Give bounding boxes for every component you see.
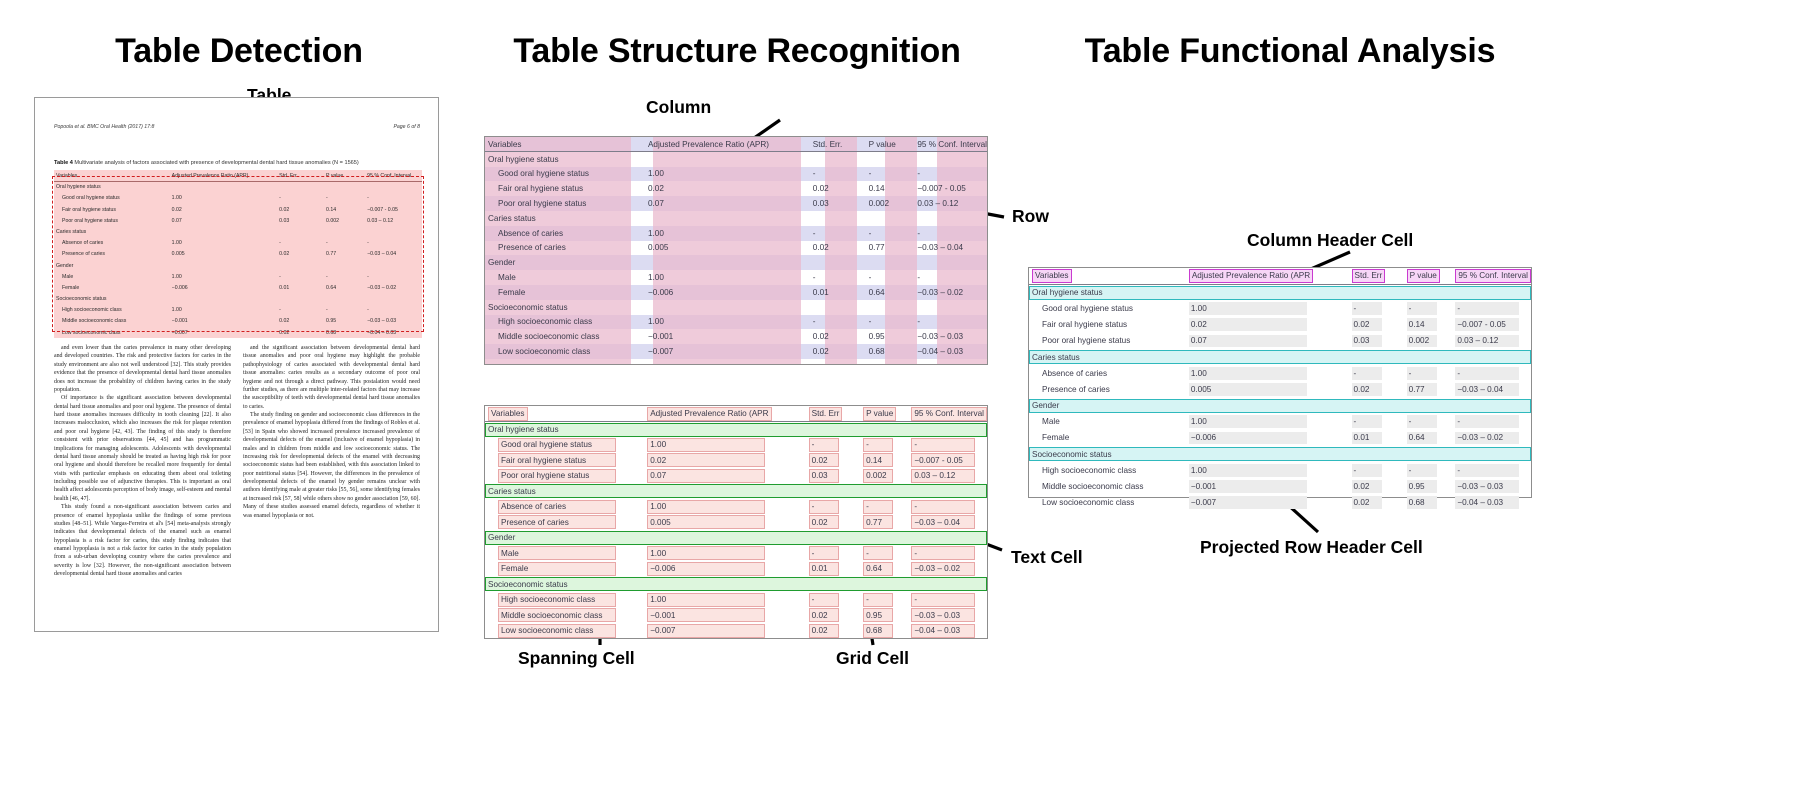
grid-cell[interactable]: −0.006: [644, 561, 805, 577]
grid-cell[interactable]: −0.03 – 0.02: [1452, 430, 1531, 446]
grid-cell[interactable]: -: [914, 315, 987, 330]
table-row[interactable]: High socioeconomic class1.00---: [485, 315, 987, 330]
grid-cell[interactable]: 0.03 – 0.12: [914, 196, 987, 211]
grid-cell-box[interactable]: −0.007 - 0.05: [911, 453, 975, 467]
grid-cell[interactable]: 0.02: [1349, 478, 1404, 494]
grid-cell[interactable]: -: [1349, 462, 1404, 478]
grid-cell[interactable]: 0.07: [1186, 333, 1349, 349]
grid-cell[interactable]: −0.04 – 0.03: [914, 344, 987, 359]
grid-cell[interactable]: 1.00: [645, 270, 810, 285]
grid-cell[interactable]: −0.03 – 0.03: [908, 608, 987, 624]
grid-cell[interactable]: -: [866, 315, 915, 330]
grid-cell-box[interactable]: -: [911, 593, 975, 607]
grid-cell[interactable]: -: [866, 167, 915, 182]
row-header-cell[interactable]: High socioeconomic class: [485, 592, 644, 608]
grid-cell-box[interactable]: 0.002: [863, 469, 893, 483]
table-row[interactable]: Poor oral hygiene status0.070.030.0020.0…: [485, 468, 987, 484]
value-cell[interactable]: 0.03: [1352, 335, 1382, 348]
table-row[interactable]: Absence of caries1.00---: [485, 226, 987, 241]
table-row[interactable]: Fair oral hygiene status0.020.020.14−0.0…: [1029, 317, 1531, 333]
grid-cell[interactable]: 0.64: [860, 561, 908, 577]
row-header-cell[interactable]: Absence of caries: [485, 226, 645, 241]
column-header-cell[interactable]: P value: [1404, 268, 1453, 284]
table-row[interactable]: Middle socioeconomic class−0.0010.020.95…: [1029, 478, 1531, 494]
grid-cell[interactable]: 0.02: [1186, 317, 1349, 333]
grid-cell[interactable]: 0.02: [810, 329, 866, 344]
grid-cell[interactable]: -: [860, 592, 908, 608]
row-header-cell[interactable]: Middle socioeconomic class: [1029, 478, 1186, 494]
grid-cell[interactable]: 1.00: [1186, 414, 1349, 430]
grid-cell-box[interactable]: 0.02: [809, 515, 839, 529]
column-header-cell-box[interactable]: P value: [1407, 269, 1440, 283]
grid-cell[interactable]: [866, 152, 915, 167]
grid-cell[interactable]: 0.77: [1404, 381, 1453, 397]
grid-cell[interactable]: -: [914, 226, 987, 241]
grid-cell[interactable]: [810, 152, 866, 167]
column-header-cell[interactable]: Variables: [1029, 268, 1186, 284]
table-row[interactable]: Middle socioeconomic class−0.0010.020.95…: [485, 608, 987, 624]
spanning-cell-box[interactable]: Caries status: [485, 484, 987, 498]
column-header-cell-box[interactable]: Variables: [488, 407, 528, 421]
grid-cell[interactable]: -: [1404, 365, 1453, 381]
grid-cell[interactable]: [914, 255, 987, 270]
grid-cell[interactable]: −0.007 - 0.05: [914, 181, 987, 196]
grid-cell[interactable]: -: [1452, 365, 1531, 381]
table-row[interactable]: Good oral hygiene status1.00---: [485, 167, 987, 182]
projected-row-header-cell-box[interactable]: Oral hygiene status: [1029, 286, 1531, 300]
projected-row-header-cell[interactable]: Socioeconomic status: [485, 300, 645, 315]
grid-cell[interactable]: [866, 300, 915, 315]
row-header-cell[interactable]: Good oral hygiene status: [485, 167, 645, 182]
grid-cell[interactable]: [810, 211, 866, 226]
value-cell[interactable]: 0.01: [1352, 432, 1382, 445]
table-row[interactable]: Fair oral hygiene status0.020.020.14−0.0…: [485, 181, 987, 196]
table-row[interactable]: Low socioeconomic class−0.0070.020.68−0.…: [1029, 495, 1531, 511]
spanning-cell[interactable]: Caries status: [485, 484, 987, 500]
grid-cell[interactable]: 1.00: [1186, 462, 1349, 478]
row-header-cell[interactable]: Absence of caries: [1029, 365, 1186, 381]
text-cell-box[interactable]: Poor oral hygiene status: [498, 469, 616, 483]
grid-cell[interactable]: -: [866, 270, 915, 285]
column-header-cell[interactable]: P value: [860, 406, 908, 422]
grid-cell[interactable]: -: [1452, 462, 1531, 478]
grid-cell[interactable]: 0.02: [810, 181, 866, 196]
grid-cell[interactable]: −0.006: [645, 285, 810, 300]
row-header-cell[interactable]: Absence of caries: [485, 499, 644, 515]
grid-cell[interactable]: [866, 255, 915, 270]
grid-cell-box[interactable]: 0.07: [647, 469, 765, 483]
value-cell[interactable]: −0.03 – 0.02: [1455, 432, 1519, 445]
grid-cell[interactable]: 0.02: [810, 344, 866, 359]
row-header-cell[interactable]: Male: [1029, 414, 1186, 430]
row-header-cell[interactable]: Low socioeconomic class: [485, 344, 645, 359]
value-cell[interactable]: 1.00: [1189, 302, 1307, 315]
grid-cell[interactable]: -: [908, 546, 987, 562]
projected-row-header-cell[interactable]: Socioeconomic status: [1029, 446, 1531, 462]
grid-cell[interactable]: -: [1404, 414, 1453, 430]
grid-cell-box[interactable]: 0.77: [863, 515, 893, 529]
grid-cell[interactable]: -: [806, 546, 860, 562]
table-row[interactable]: Presence of caries0.0050.020.77−0.03 – 0…: [1029, 381, 1531, 397]
projected-row-header-cell[interactable]: Gender: [1029, 398, 1531, 414]
grid-cell-box[interactable]: -: [863, 593, 893, 607]
grid-cell[interactable]: 0.02: [806, 608, 860, 624]
grid-cell[interactable]: -: [866, 226, 915, 241]
table-row[interactable]: Fair oral hygiene status0.020.020.14−0.0…: [485, 453, 987, 469]
grid-cell-box[interactable]: 0.95: [863, 608, 893, 622]
text-cell-box[interactable]: Fair oral hygiene status: [498, 453, 616, 467]
grid-cell[interactable]: -: [810, 226, 866, 241]
column-header-cell[interactable]: Variables: [485, 406, 644, 422]
grid-cell[interactable]: 0.01: [806, 561, 860, 577]
row-header-cell[interactable]: Presence of caries: [485, 241, 645, 256]
grid-cell-box[interactable]: −0.04 – 0.03: [911, 624, 975, 638]
grid-cell[interactable]: [866, 211, 915, 226]
value-cell[interactable]: −0.03 – 0.03: [1455, 480, 1519, 493]
value-cell[interactable]: 0.14: [1407, 318, 1437, 331]
row-header-cell[interactable]: Male: [485, 270, 645, 285]
column-header-cell[interactable]: 95 % Conf. Interval: [908, 406, 987, 422]
row-header-cell[interactable]: Low socioeconomic class: [485, 623, 644, 639]
grid-cell-box[interactable]: 0.005: [647, 515, 765, 529]
grid-cell-box[interactable]: 0.03: [809, 469, 839, 483]
value-cell[interactable]: 0.02: [1352, 480, 1382, 493]
grid-cell[interactable]: 0.005: [645, 241, 810, 256]
row-header-cell[interactable]: Female: [1029, 430, 1186, 446]
grid-cell[interactable]: 0.64: [1404, 430, 1453, 446]
grid-cell[interactable]: -: [810, 167, 866, 182]
table-row[interactable]: Presence of caries0.0050.020.77−0.03 – 0…: [485, 515, 987, 531]
spanning-cell[interactable]: Gender: [485, 530, 987, 546]
grid-cell-box[interactable]: 1.00: [647, 546, 765, 560]
grid-cell[interactable]: -: [1349, 300, 1404, 316]
value-cell[interactable]: -: [1352, 464, 1382, 477]
grid-cell-box[interactable]: −0.03 – 0.04: [911, 515, 975, 529]
grid-cell[interactable]: 0.14: [860, 453, 908, 469]
table-row[interactable]: Poor oral hygiene status0.070.030.0020.0…: [485, 196, 987, 211]
grid-cell[interactable]: 0.07: [644, 468, 805, 484]
text-cell-box[interactable]: Presence of caries: [498, 515, 616, 529]
grid-cell[interactable]: -: [914, 167, 987, 182]
grid-cell[interactable]: -: [1349, 365, 1404, 381]
table-row[interactable]: Male1.00---: [1029, 414, 1531, 430]
value-cell[interactable]: 0.02: [1189, 318, 1307, 331]
grid-cell[interactable]: −0.04 – 0.03: [1452, 495, 1531, 511]
value-cell[interactable]: −0.007: [1189, 496, 1307, 509]
grid-cell[interactable]: 0.77: [860, 515, 908, 531]
value-cell[interactable]: -: [1455, 367, 1519, 380]
grid-cell[interactable]: 0.03 – 0.12: [908, 468, 987, 484]
spanning-cell-box[interactable]: Socioeconomic status: [485, 577, 987, 591]
table-row[interactable]: Poor oral hygiene status0.070.030.0020.0…: [1029, 333, 1531, 349]
grid-cell-box[interactable]: -: [911, 500, 975, 514]
grid-cell[interactable]: [914, 300, 987, 315]
value-cell[interactable]: 0.68: [1407, 496, 1437, 509]
grid-cell-box[interactable]: 0.68: [863, 624, 893, 638]
grid-cell[interactable]: −0.03 – 0.04: [1452, 381, 1531, 397]
row-header-cell[interactable]: Good oral hygiene status: [1029, 300, 1186, 316]
value-cell[interactable]: −0.001: [1189, 480, 1307, 493]
value-cell[interactable]: −0.006: [1189, 432, 1307, 445]
grid-cell[interactable]: 0.14: [1404, 317, 1453, 333]
grid-cell[interactable]: 0.02: [806, 453, 860, 469]
grid-cell[interactable]: −0.001: [645, 329, 810, 344]
grid-cell[interactable]: -: [810, 315, 866, 330]
grid-cell[interactable]: 0.02: [806, 623, 860, 639]
grid-cell-box[interactable]: 0.02: [809, 624, 839, 638]
column-header-cell[interactable]: Std. Err.: [810, 137, 866, 152]
value-cell[interactable]: 0.95: [1407, 480, 1437, 493]
grid-cell[interactable]: 1.00: [644, 437, 805, 453]
table-row[interactable]: Caries status: [485, 484, 987, 500]
grid-cell[interactable]: −0.006: [1186, 430, 1349, 446]
value-cell[interactable]: -: [1455, 302, 1519, 315]
row-header-cell[interactable]: Female: [485, 285, 645, 300]
grid-cell[interactable]: -: [806, 592, 860, 608]
grid-cell[interactable]: 0.005: [644, 515, 805, 531]
grid-cell-box[interactable]: -: [911, 438, 975, 452]
column-header-cell-box[interactable]: Std. Err: [1352, 269, 1386, 283]
text-cell-box[interactable]: Good oral hygiene status: [498, 438, 616, 452]
grid-cell[interactable]: 0.01: [810, 285, 866, 300]
grid-cell[interactable]: -: [1452, 414, 1531, 430]
grid-cell[interactable]: -: [860, 437, 908, 453]
column-header-cell[interactable]: P value: [866, 137, 915, 152]
table-row[interactable]: Socioeconomic status: [485, 300, 987, 315]
grid-cell[interactable]: [645, 255, 810, 270]
row-header-cell[interactable]: Low socioeconomic class: [1029, 495, 1186, 511]
table-row[interactable]: Good oral hygiene status1.00---: [485, 437, 987, 453]
grid-cell-box[interactable]: 0.64: [863, 562, 893, 576]
column-header-cell[interactable]: Std. Err: [806, 406, 860, 422]
table-row[interactable]: Absence of caries1.00---: [485, 499, 987, 515]
column-header-cell[interactable]: 95 % Conf. Interval: [1452, 268, 1531, 284]
grid-cell[interactable]: [914, 152, 987, 167]
column-header-cell-box[interactable]: Std. Err: [809, 407, 843, 421]
grid-cell[interactable]: [914, 211, 987, 226]
grid-cell[interactable]: −0.007 - 0.05: [908, 453, 987, 469]
projected-row-header-cell[interactable]: Caries status: [1029, 349, 1531, 365]
grid-cell-box[interactable]: −0.03 – 0.02: [911, 562, 975, 576]
value-cell[interactable]: 0.02: [1352, 383, 1382, 396]
grid-cell[interactable]: 0.07: [645, 196, 810, 211]
table-row[interactable]: Female−0.0060.010.64−0.03 – 0.02: [485, 561, 987, 577]
grid-cell[interactable]: −0.007: [1186, 495, 1349, 511]
table-row[interactable]: Female−0.0060.010.64−0.03 – 0.02: [1029, 430, 1531, 446]
grid-cell[interactable]: 1.00: [644, 499, 805, 515]
grid-cell[interactable]: 0.02: [644, 453, 805, 469]
row-header-cell[interactable]: Poor oral hygiene status: [485, 468, 644, 484]
grid-cell-box[interactable]: 1.00: [647, 438, 765, 452]
column-header-cell-box[interactable]: Adjusted Prevalence Ratio (APR: [647, 407, 771, 421]
grid-cell[interactable]: 0.64: [866, 285, 915, 300]
table-row[interactable]: Low socioeconomic class−0.0070.020.68−0.…: [485, 623, 987, 639]
table-row[interactable]: High socioeconomic class1.00---: [485, 592, 987, 608]
column-header-cell-box[interactable]: 95 % Conf. Interval: [911, 407, 987, 421]
row-header-cell[interactable]: Presence of caries: [1029, 381, 1186, 397]
value-cell[interactable]: 0.002: [1407, 335, 1437, 348]
projected-row-header-cell-box[interactable]: Gender: [1029, 399, 1531, 413]
grid-cell[interactable]: 0.02: [645, 181, 810, 196]
grid-cell[interactable]: [810, 300, 866, 315]
value-cell[interactable]: -: [1407, 464, 1437, 477]
row-header-cell[interactable]: High socioeconomic class: [1029, 462, 1186, 478]
row-header-cell[interactable]: Female: [485, 561, 644, 577]
text-cell-box[interactable]: Middle socioeconomic class: [498, 608, 616, 622]
grid-cell[interactable]: −0.03 – 0.02: [908, 561, 987, 577]
grid-cell[interactable]: 0.68: [1404, 495, 1453, 511]
grid-cell[interactable]: -: [908, 592, 987, 608]
grid-cell[interactable]: 0.03: [1349, 333, 1404, 349]
table-row[interactable]: Caries status: [485, 211, 987, 226]
grid-cell-box[interactable]: 0.03 – 0.12: [911, 469, 975, 483]
grid-cell[interactable]: 0.002: [866, 196, 915, 211]
value-cell[interactable]: -: [1352, 415, 1382, 428]
spanning-cell[interactable]: Oral hygiene status: [485, 422, 987, 438]
text-cell-box[interactable]: Male: [498, 546, 616, 560]
table-row[interactable]: Female−0.0060.010.64−0.03 – 0.02: [485, 285, 987, 300]
grid-cell[interactable]: [645, 152, 810, 167]
grid-cell-box[interactable]: −0.006: [647, 562, 765, 576]
value-cell[interactable]: -: [1407, 415, 1437, 428]
grid-cell[interactable]: -: [914, 270, 987, 285]
table-row[interactable]: Gender: [485, 255, 987, 270]
column-header-cell[interactable]: Variables: [485, 137, 645, 152]
spanning-cell-box[interactable]: Gender: [485, 531, 987, 545]
row-header-cell[interactable]: Fair oral hygiene status: [485, 453, 644, 469]
text-cell-box[interactable]: Low socioeconomic class: [498, 624, 616, 638]
grid-cell[interactable]: 0.02: [806, 515, 860, 531]
grid-cell[interactable]: −0.03 – 0.02: [914, 285, 987, 300]
column-header-cell[interactable]: Adjusted Prevalence Ratio (APR: [644, 406, 805, 422]
projected-row-header-cell[interactable]: Caries status: [485, 211, 645, 226]
row-header-cell[interactable]: Fair oral hygiene status: [1029, 317, 1186, 333]
table-row[interactable]: Gender: [1029, 398, 1531, 414]
row-header-cell[interactable]: Male: [485, 546, 644, 562]
grid-cell[interactable]: −0.007 - 0.05: [1452, 317, 1531, 333]
grid-cell[interactable]: 0.77: [866, 241, 915, 256]
grid-cell[interactable]: −0.007: [645, 344, 810, 359]
grid-cell-box[interactable]: −0.007: [647, 624, 765, 638]
grid-cell[interactable]: -: [1404, 462, 1453, 478]
value-cell[interactable]: 0.005: [1189, 383, 1307, 396]
table-row[interactable]: Oral hygiene status: [485, 152, 987, 167]
grid-cell[interactable]: −0.03 – 0.04: [914, 241, 987, 256]
grid-cell[interactable]: −0.007: [644, 623, 805, 639]
grid-cell[interactable]: 1.00: [644, 592, 805, 608]
spanning-cell-box[interactable]: Oral hygiene status: [485, 423, 987, 437]
grid-cell[interactable]: 0.02: [1349, 381, 1404, 397]
column-header-cell[interactable]: 95 % Conf. Interval: [914, 137, 987, 152]
grid-cell-box[interactable]: -: [809, 546, 839, 560]
grid-cell[interactable]: 0.03: [806, 468, 860, 484]
grid-cell[interactable]: -: [908, 437, 987, 453]
value-cell[interactable]: 0.02: [1352, 318, 1382, 331]
grid-cell[interactable]: −0.001: [1186, 478, 1349, 494]
table-row[interactable]: Good oral hygiene status1.00---: [1029, 300, 1531, 316]
text-cell-box[interactable]: Absence of caries: [498, 500, 616, 514]
grid-cell-box[interactable]: -: [809, 593, 839, 607]
table-row[interactable]: Caries status: [1029, 349, 1531, 365]
value-cell[interactable]: -: [1407, 367, 1437, 380]
row-header-cell[interactable]: Good oral hygiene status: [485, 437, 644, 453]
column-header-cell[interactable]: Adjusted Prevalence Ratio (APR: [1186, 268, 1349, 284]
value-cell[interactable]: 0.03 – 0.12: [1455, 335, 1519, 348]
value-cell[interactable]: -: [1455, 464, 1519, 477]
grid-cell[interactable]: 0.005: [1186, 381, 1349, 397]
spanning-cell[interactable]: Socioeconomic status: [485, 577, 987, 593]
value-cell[interactable]: -: [1407, 302, 1437, 315]
grid-cell-box[interactable]: -: [809, 438, 839, 452]
grid-cell[interactable]: 0.02: [1349, 317, 1404, 333]
table-row[interactable]: Male1.00---: [485, 270, 987, 285]
grid-cell-box[interactable]: -: [863, 500, 893, 514]
grid-cell[interactable]: −0.03 – 0.03: [1452, 478, 1531, 494]
grid-cell-box[interactable]: -: [863, 546, 893, 560]
text-cell-box[interactable]: Female: [498, 562, 616, 576]
grid-cell[interactable]: 0.02: [1349, 495, 1404, 511]
grid-cell[interactable]: 0.01: [1349, 430, 1404, 446]
grid-cell[interactable]: 0.03: [810, 196, 866, 211]
column-header-cell[interactable]: Adjusted Prevalence Ratio (APR): [645, 137, 810, 152]
value-cell[interactable]: 0.77: [1407, 383, 1437, 396]
column-header-cell-box[interactable]: 95 % Conf. Interval: [1455, 269, 1531, 283]
grid-cell-box[interactable]: 1.00: [647, 500, 765, 514]
grid-cell-box[interactable]: 0.02: [647, 453, 765, 467]
value-cell[interactable]: -: [1455, 415, 1519, 428]
grid-cell[interactable]: -: [860, 499, 908, 515]
grid-cell[interactable]: -: [1349, 414, 1404, 430]
grid-cell[interactable]: 1.00: [1186, 300, 1349, 316]
column-header-cell-box[interactable]: Variables: [1032, 269, 1072, 283]
grid-cell[interactable]: -: [1452, 300, 1531, 316]
grid-cell[interactable]: 0.95: [1404, 478, 1453, 494]
row-header-cell[interactable]: Poor oral hygiene status: [485, 196, 645, 211]
value-cell[interactable]: 1.00: [1189, 415, 1307, 428]
value-cell[interactable]: -: [1352, 302, 1382, 315]
projected-row-header-cell[interactable]: Gender: [485, 255, 645, 270]
table-row[interactable]: High socioeconomic class1.00---: [1029, 462, 1531, 478]
column-header-cell-box[interactable]: Adjusted Prevalence Ratio (APR: [1189, 269, 1313, 283]
grid-cell[interactable]: −0.03 – 0.04: [908, 515, 987, 531]
table-row[interactable]: Low socioeconomic class−0.0070.020.68−0.…: [485, 344, 987, 359]
grid-cell[interactable]: −0.03 – 0.03: [914, 329, 987, 344]
grid-cell[interactable]: -: [810, 270, 866, 285]
grid-cell[interactable]: 1.00: [644, 546, 805, 562]
value-cell[interactable]: 0.64: [1407, 432, 1437, 445]
grid-cell[interactable]: 0.95: [866, 329, 915, 344]
grid-cell-box[interactable]: −0.03 – 0.03: [911, 608, 975, 622]
grid-cell-box[interactable]: -: [809, 500, 839, 514]
row-header-cell[interactable]: Fair oral hygiene status: [485, 181, 645, 196]
grid-cell-box[interactable]: 1.00: [647, 593, 765, 607]
grid-cell[interactable]: −0.001: [644, 608, 805, 624]
value-cell[interactable]: 0.02: [1352, 496, 1382, 509]
grid-cell[interactable]: [810, 255, 866, 270]
projected-row-header-cell-box[interactable]: Caries status: [1029, 350, 1531, 364]
grid-cell[interactable]: 0.02: [810, 241, 866, 256]
table-row[interactable]: Presence of caries0.0050.020.77−0.03 – 0…: [485, 241, 987, 256]
grid-cell[interactable]: -: [806, 437, 860, 453]
column-header-cell[interactable]: Std. Err: [1349, 268, 1404, 284]
table-row[interactable]: Socioeconomic status: [485, 577, 987, 593]
text-cell-box[interactable]: High socioeconomic class: [498, 593, 616, 607]
grid-cell-box[interactable]: 0.02: [809, 608, 839, 622]
grid-cell[interactable]: 0.95: [860, 608, 908, 624]
grid-cell[interactable]: 1.00: [645, 167, 810, 182]
grid-cell[interactable]: [645, 300, 810, 315]
grid-cell[interactable]: 0.68: [860, 623, 908, 639]
